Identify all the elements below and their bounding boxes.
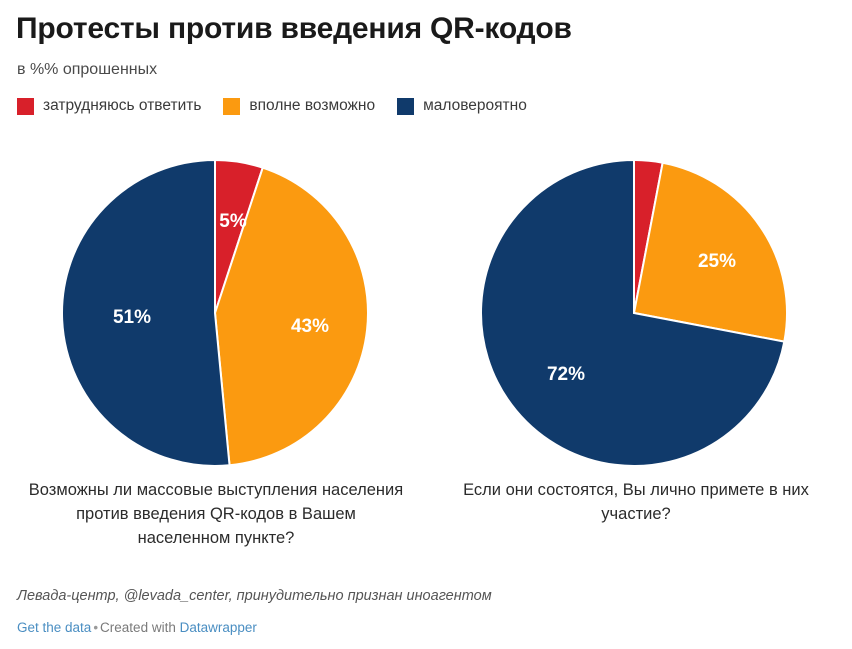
footer-separator: • [91, 620, 100, 635]
pie-caption-left: Возможны ли массовые выступления населен… [28, 478, 404, 550]
pie-charts-area: 5%43%51% 25%72% [0, 0, 852, 649]
pie-slice-label: 43% [291, 316, 329, 337]
pie-slice-label: 51% [113, 307, 151, 328]
datawrapper-link[interactable]: Datawrapper [180, 620, 257, 635]
pie-slice-label: 25% [698, 251, 736, 272]
pie-caption-right: Если они состоятся, Вы лично примете в н… [448, 478, 824, 526]
created-with-label: Created with [100, 620, 176, 635]
pie-slice-label: 5% [219, 211, 247, 232]
pie-slice-label: 72% [547, 364, 585, 385]
pie-chart-right: 25%72% [481, 160, 787, 466]
get-the-data-link[interactable]: Get the data [17, 620, 91, 635]
footer-credit: Get the data•Created with Datawrapper [17, 620, 257, 635]
pie-chart-left: 5%43%51% [62, 160, 368, 466]
chart-page: Протесты против введения QR-кодов в %% о… [0, 0, 852, 649]
source-note: Левада-центр, @levada_center, принудител… [17, 588, 492, 604]
